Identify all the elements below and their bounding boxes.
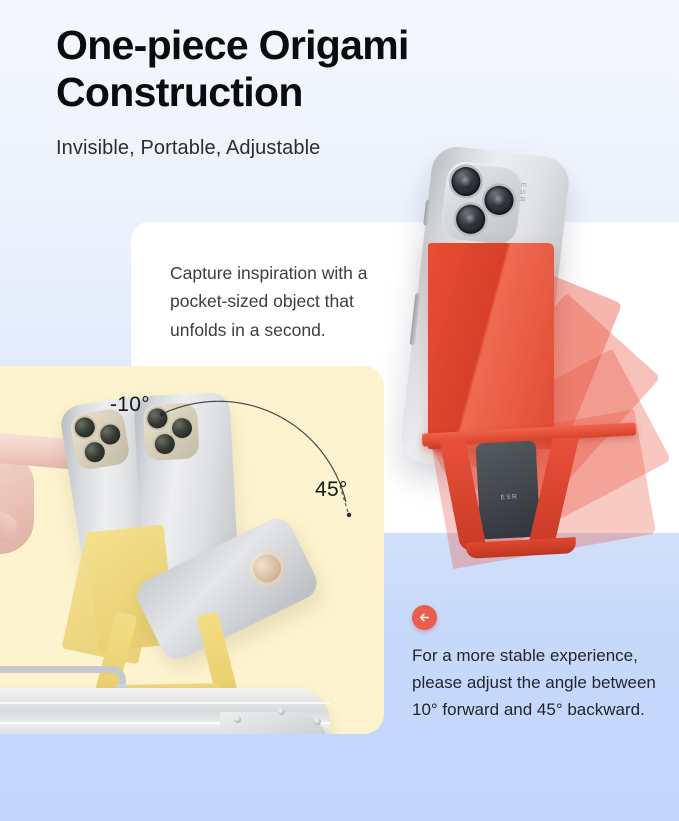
suitcase-ridge (0, 702, 330, 704)
stand-v-base-red: ESR (422, 428, 642, 558)
angle-label-min: -10° (110, 393, 150, 417)
camera-lens-icon (73, 416, 96, 439)
suitcase-rivet (278, 708, 285, 715)
stand-wallet-card: ESR (476, 440, 541, 539)
page-title-line-2: Construction (56, 69, 536, 116)
stability-note-text: For a more stable experience, please adj… (412, 643, 662, 724)
aluminium-suitcase (0, 666, 338, 734)
stability-note: For a more stable experience, please adj… (412, 605, 662, 724)
page-title-line-1: One-piece Origami (56, 22, 536, 69)
phone-camera-module (440, 160, 524, 246)
white-card-body-text: Capture inspiration with a pocket-sized … (170, 259, 410, 344)
phone-volume-button (410, 293, 421, 345)
suitcase-rivet (234, 716, 241, 723)
camera-lens-icon (450, 165, 482, 197)
hero-product-image: ESR ESR (398, 143, 679, 563)
phone-side-button (423, 200, 431, 226)
camera-lens-icon (483, 184, 515, 216)
stand-leaf-solid (428, 243, 554, 449)
suitcase-rivet (314, 718, 321, 725)
stand-card-label: ESR (486, 493, 532, 502)
arrow-left-circle-icon (412, 605, 437, 630)
product-feature-page: One-piece Origami Construction Invisible… (0, 0, 679, 821)
camera-lens-icon (455, 203, 487, 235)
suitcase-body (0, 688, 330, 734)
angle-label-max: 45° (315, 478, 348, 502)
magsafe-ring-icon (243, 544, 291, 592)
page-title: One-piece Origami Construction (56, 22, 536, 115)
headline-block: One-piece Origami Construction Invisible… (56, 22, 536, 160)
phone-brand-mark: ESR (517, 182, 526, 204)
